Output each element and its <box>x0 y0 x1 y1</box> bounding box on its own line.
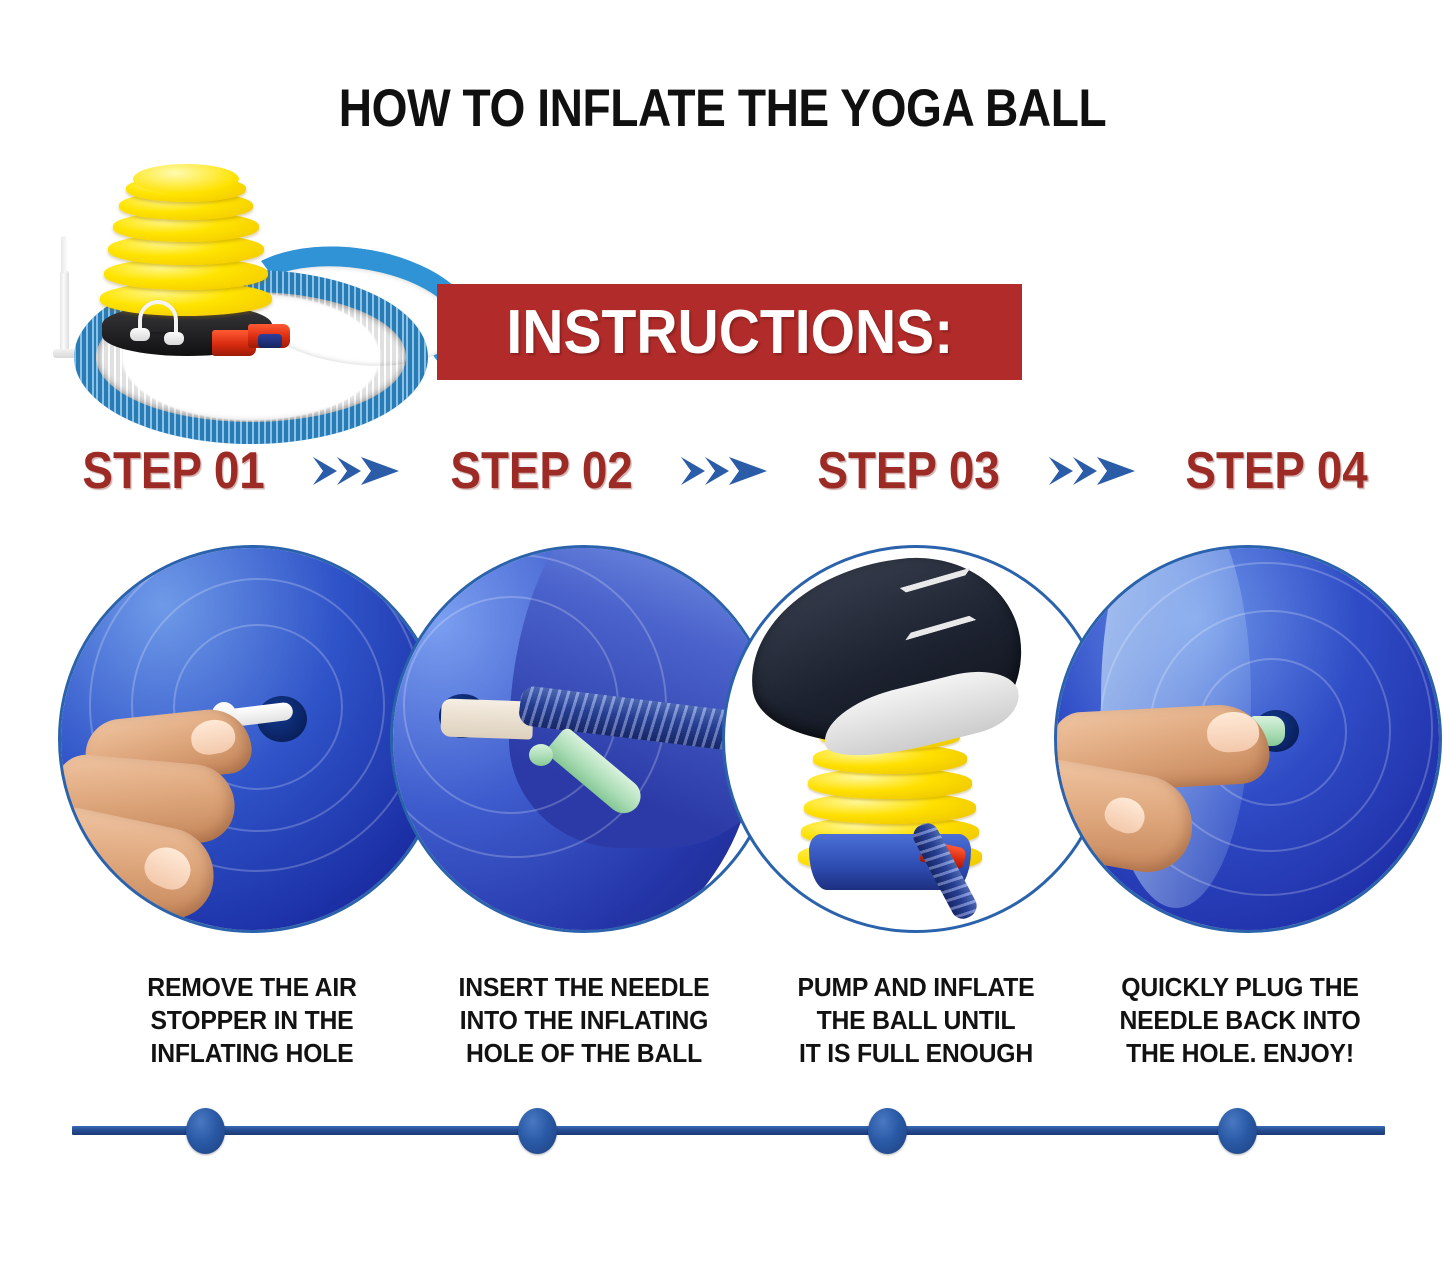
caption-line: QUICKLY PLUG THE <box>1075 972 1405 1005</box>
foot-pressing-pump-photo <box>722 545 1110 933</box>
timeline-line <box>72 1126 1385 1135</box>
yellow-bellows-pump <box>100 164 272 316</box>
page-title: HOW TO INFLATE THE YOGA BALL <box>94 78 1351 139</box>
finger-plugging-stopper-photo <box>1054 545 1442 933</box>
hand-removing-air-stopper-photo <box>58 545 446 933</box>
caption-line: PUMP AND INFLATE <box>751 972 1081 1005</box>
step-label-04: STEP 04 <box>1185 441 1367 501</box>
progress-timeline <box>0 1100 1445 1170</box>
caption-line: THE BALL UNTIL <box>751 1005 1081 1038</box>
triple-chevron-arrow-icon <box>311 451 403 491</box>
timeline-dot-3 <box>868 1108 907 1154</box>
infographic-page: HOW TO INFLATE THE YOGA BALL INSTRUCTION… <box>0 0 1445 1275</box>
bellows-top-cap <box>133 164 239 194</box>
step-label-01: STEP 01 <box>82 441 264 501</box>
inflation-needle-icon <box>60 270 69 350</box>
caption-line: REMOVE THE AIR <box>87 972 417 1005</box>
step-header-row: STEP 01 STEP 02 STEP 03 <box>70 435 1380 507</box>
caption-line: NEEDLE BACK INTO <box>1075 1005 1405 1038</box>
foot-pump-hero-image <box>42 152 442 410</box>
triple-chevron-arrow-icon <box>679 451 771 491</box>
step-caption-02: INSERT THE NEEDLE INTO THE INFLATING HOL… <box>419 972 749 1071</box>
step-caption-01: REMOVE THE AIR STOPPER IN THE INFLATING … <box>87 972 417 1071</box>
step-photo-row <box>58 545 1398 935</box>
instructions-banner: INSTRUCTIONS: <box>437 284 1022 380</box>
caption-line: IT IS FULL ENOUGH <box>751 1038 1081 1071</box>
nozzle-hose-connector <box>258 334 282 348</box>
timeline-dot-2 <box>518 1108 557 1154</box>
step-label-03: STEP 03 <box>818 441 1000 501</box>
pump-strap-clip <box>130 328 150 341</box>
caption-line: INTO THE INFLATING <box>419 1005 749 1038</box>
step-caption-03: PUMP AND INFLATE THE BALL UNTIL IT IS FU… <box>751 972 1081 1071</box>
caption-row: REMOVE THE AIR STOPPER IN THE INFLATING … <box>58 972 1398 1078</box>
caption-line: INFLATING HOLE <box>87 1038 417 1071</box>
needle-inserted-into-ball-photo <box>390 545 778 933</box>
timeline-dot-4 <box>1218 1108 1257 1154</box>
instructions-banner-label: INSTRUCTIONS: <box>506 297 953 368</box>
triple-chevron-arrow-icon <box>1047 451 1139 491</box>
caption-line: STOPPER IN THE <box>87 1005 417 1038</box>
timeline-dot-1 <box>186 1108 225 1154</box>
caption-line: THE HOLE. ENJOY! <box>1075 1038 1405 1071</box>
step-label-02: STEP 02 <box>450 441 632 501</box>
mint-green-stopper-flange <box>529 744 553 766</box>
step-caption-04: QUICKLY PLUG THE NEEDLE BACK INTO THE HO… <box>1075 972 1405 1071</box>
caption-line: HOLE OF THE BALL <box>419 1038 749 1071</box>
caption-line: INSERT THE NEEDLE <box>419 972 749 1005</box>
pump-strap-clip <box>164 332 184 345</box>
